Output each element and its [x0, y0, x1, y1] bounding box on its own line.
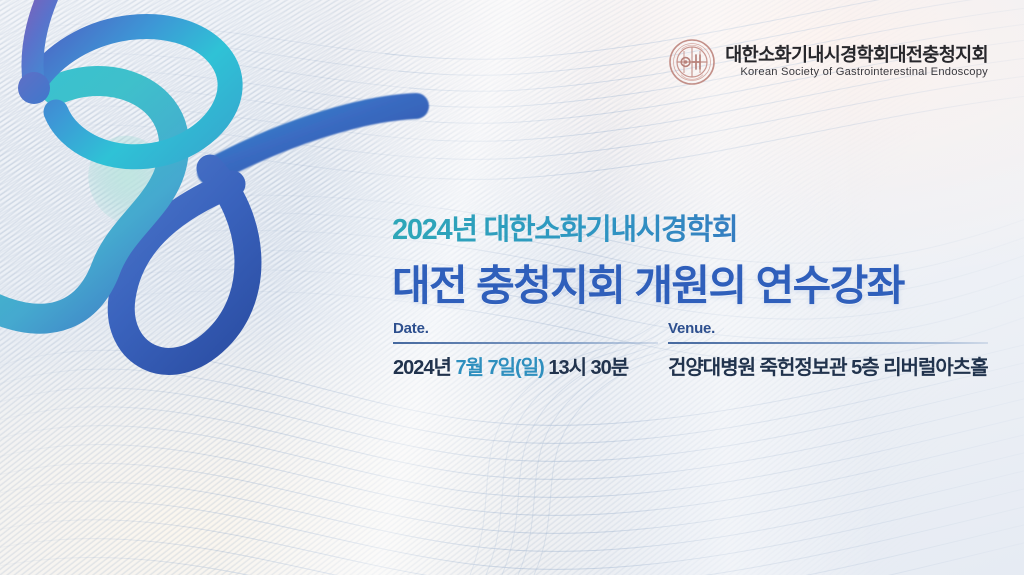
event-headline: 대전 충청지회 개원의 연수강좌 — [392, 252, 992, 313]
date-value: 2024년 7월 7일(일) 13시 30분 — [393, 351, 658, 380]
society-logo: 대한소화기내시경학회대전충청지회 Korean Society of Gastr… — [668, 38, 988, 86]
venue-label: Venue. — [658, 320, 988, 342]
date-divider — [393, 342, 658, 344]
event-details: Date. 2024년 7월 7일(일) 13시 30분 Venue. 건양대병… — [393, 320, 988, 380]
venue-value: 건양대병원 죽헌정보관 5층 리버럴아츠홀 — [658, 351, 988, 380]
date-column: Date. 2024년 7월 7일(일) 13시 30분 — [393, 320, 658, 380]
date-value-suffix: 13시 30분 — [544, 357, 628, 379]
date-value-highlight: 7월 7일(일) — [455, 357, 543, 379]
society-name-korean: 대한소화기내시경학회대전충청지회 — [725, 45, 988, 64]
event-eyebrow: 2024년 대한소화기내시경학회 — [392, 206, 992, 248]
venue-column: Venue. 건양대병원 죽헌정보관 5층 리버럴아츠홀 — [658, 320, 988, 380]
society-logo-text: 대한소화기내시경학회대전충청지회 Korean Society of Gastr… — [725, 45, 988, 79]
venue-divider — [668, 342, 988, 344]
endoscope-ribbon-graphic — [0, 0, 424, 402]
date-label: Date. — [393, 320, 658, 342]
date-value-prefix: 2024년 — [393, 357, 455, 379]
society-seal-icon — [668, 38, 716, 86]
title-block: 2024년 대한소화기내시경학회 대전 충청지회 개원의 연수강좌 — [392, 206, 992, 313]
event-poster: 대한소화기내시경학회대전충청지회 Korean Society of Gastr… — [0, 0, 1024, 575]
society-name-english: Korean Society of Gastrointerestinal End… — [740, 67, 988, 79]
